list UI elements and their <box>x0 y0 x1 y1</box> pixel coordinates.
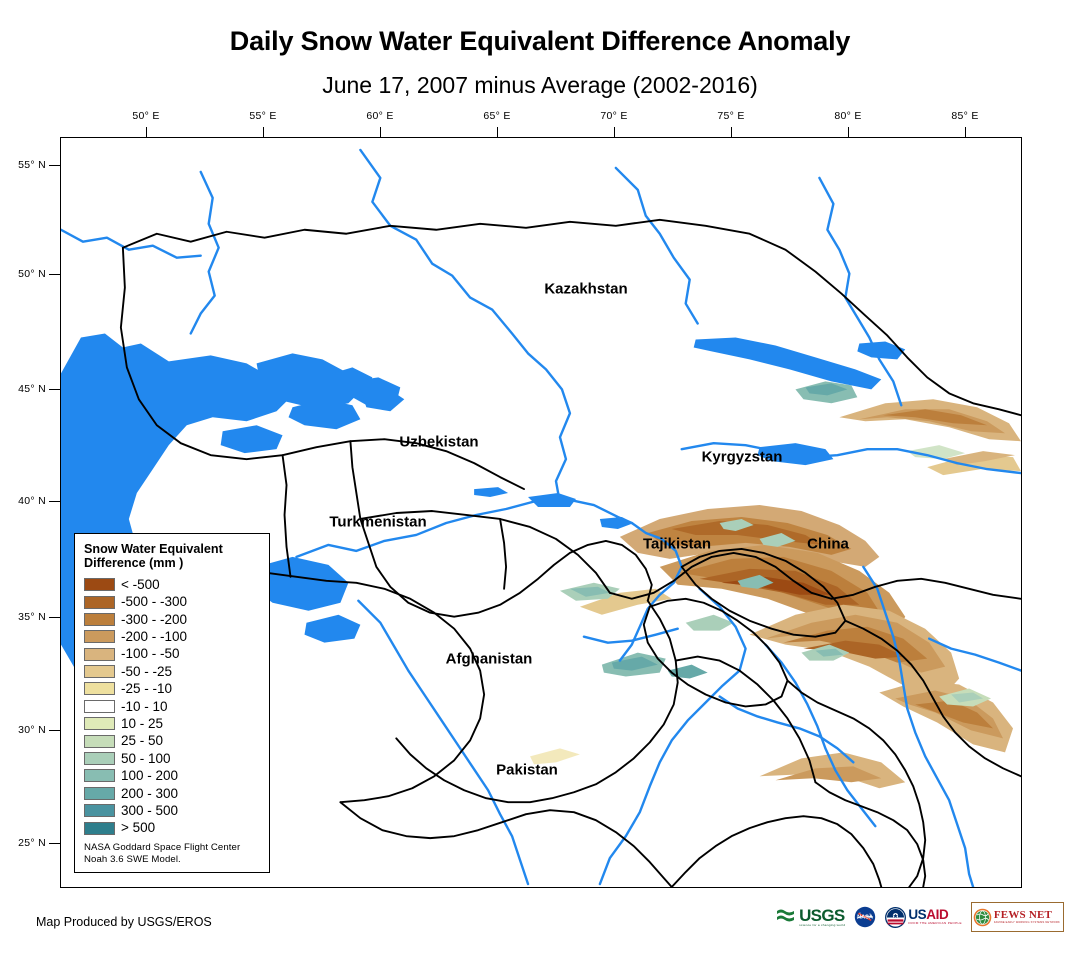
usgs-logo[interactable]: USGS science for a changing world <box>776 904 845 930</box>
legend-item: 25 - 50 <box>84 732 261 749</box>
legend-label: -25 - -10 <box>121 682 172 696</box>
legend-note-line1: NASA Goddard Space Flight Center <box>84 842 240 853</box>
legend-item: > 500 <box>84 819 261 836</box>
map-legend: Snow Water Equivalent Difference (mm ) <… <box>74 533 270 873</box>
lon-label: 60° E <box>366 110 393 122</box>
legend-label: 300 - 500 <box>121 804 178 818</box>
lon-label: 50° E <box>132 110 159 122</box>
legend-swatch <box>84 787 115 800</box>
legend-label: < -500 <box>121 578 160 592</box>
legend-label: > 500 <box>121 821 155 835</box>
legend-label: -10 - 10 <box>121 700 168 714</box>
fewsnet-tagline: FAMINE EARLY WARNING SYSTEMS NETWORK <box>994 921 1060 924</box>
legend-swatch <box>84 648 115 661</box>
legend-swatch <box>84 735 115 748</box>
lon-label: 65° E <box>483 110 510 122</box>
lon-label: 55° E <box>249 110 276 122</box>
usaid-logo[interactable]: USAID FROM THE AMERICAN PEOPLE <box>885 904 962 930</box>
legend-swatch <box>84 665 115 678</box>
lat-label: 55° N <box>18 159 46 171</box>
legend-label: -50 - -25 <box>121 665 172 679</box>
fewsnet-wordmark: FEWS NET <box>994 910 1060 921</box>
legend-title-line1: Snow Water Equivalent <box>84 542 223 556</box>
legend-label: 200 - 300 <box>121 787 178 801</box>
legend-label: -100 - -50 <box>121 647 180 661</box>
nasa-meatball-icon: NASA <box>854 906 876 928</box>
legend-item: -200 - -100 <box>84 628 261 645</box>
agency-logos: USGS science for a changing world NASA U… <box>776 902 1064 932</box>
usaid-wordmark: USAID <box>908 908 962 922</box>
legend-swatch <box>84 804 115 817</box>
usgs-tagline: science for a changing world <box>799 924 845 928</box>
legend-label: -500 - -300 <box>121 595 187 609</box>
legend-title-line2: Difference (mm ) <box>84 556 183 570</box>
legend-swatch <box>84 700 115 713</box>
fewsnet-logo[interactable]: FEWS NET FAMINE EARLY WARNING SYSTEMS NE… <box>971 902 1064 932</box>
legend-swatch <box>84 630 115 643</box>
page-subtitle: June 17, 2007 minus Average (2002-2016) <box>0 72 1080 99</box>
lon-label: 80° E <box>834 110 861 122</box>
lat-label: 45° N <box>18 383 46 395</box>
usgs-wave-icon <box>776 907 798 927</box>
lon-label: 75° E <box>717 110 744 122</box>
legend-swatch <box>84 752 115 765</box>
legend-title: Snow Water Equivalent Difference (mm ) <box>84 542 261 571</box>
legend-swatch <box>84 717 115 730</box>
legend-item: < -500 <box>84 576 261 593</box>
legend-item: -100 - -50 <box>84 646 261 663</box>
nasa-logo[interactable]: NASA <box>854 904 876 930</box>
legend-swatch <box>84 596 115 609</box>
legend-item: 100 - 200 <box>84 767 261 784</box>
map-credit: Map Produced by USGS/EROS <box>36 915 212 929</box>
svg-text:NASA: NASA <box>857 915 873 921</box>
usaid-seal-icon <box>885 907 906 928</box>
page-title: Daily Snow Water Equivalent Difference A… <box>0 26 1080 57</box>
legend-label: 50 - 100 <box>121 752 171 766</box>
legend-source-note: NASA Goddard Space Flight Center Noah 3.… <box>84 842 261 867</box>
legend-item: -10 - 10 <box>84 698 261 715</box>
lon-label: 85° E <box>951 110 978 122</box>
legend-item: 300 - 500 <box>84 802 261 819</box>
legend-swatch <box>84 682 115 695</box>
legend-label: -300 - -200 <box>121 613 187 627</box>
lat-label: 30° N <box>18 724 46 736</box>
legend-item: -300 - -200 <box>84 611 261 628</box>
legend-item: 50 - 100 <box>84 750 261 767</box>
legend-swatch <box>84 613 115 626</box>
legend-item: 10 - 25 <box>84 715 261 732</box>
usaid-tagline: FROM THE AMERICAN PEOPLE <box>908 922 962 926</box>
lat-label: 50° N <box>18 268 46 280</box>
legend-swatch <box>84 769 115 782</box>
legend-label: 10 - 25 <box>121 717 163 731</box>
legend-item: -25 - -10 <box>84 680 261 697</box>
legend-item: 200 - 300 <box>84 785 261 802</box>
fewsnet-globe-icon <box>973 908 992 927</box>
lat-label: 40° N <box>18 495 46 507</box>
legend-swatch <box>84 822 115 835</box>
legend-label: 100 - 200 <box>121 769 178 783</box>
legend-note-line2: Noah 3.6 SWE Model. <box>84 854 181 865</box>
legend-item: -50 - -25 <box>84 663 261 680</box>
legend-item: -500 - -300 <box>84 593 261 610</box>
legend-label: -200 - -100 <box>121 630 187 644</box>
lat-label: 35° N <box>18 611 46 623</box>
lon-label: 70° E <box>600 110 627 122</box>
legend-label: 25 - 50 <box>121 734 163 748</box>
legend-swatch <box>84 578 115 591</box>
usgs-wordmark: USGS <box>799 907 845 924</box>
lat-label: 25° N <box>18 837 46 849</box>
